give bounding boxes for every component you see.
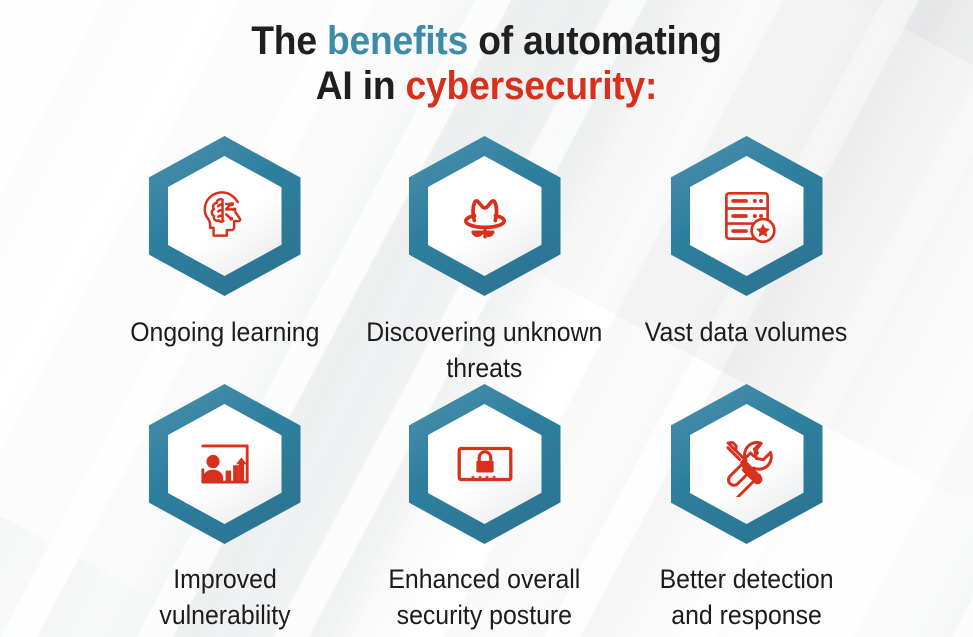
benefit-label: Discovering unknown threats bbox=[366, 314, 602, 386]
title-line-1: The benefits of automating bbox=[34, 19, 939, 64]
spy-hat-mask-icon bbox=[452, 183, 518, 249]
benefit-item-discovering-unknown-threats[interactable]: Discovering unknown threats bbox=[354, 132, 616, 386]
benefits-row-1: Ongoing learning bbox=[0, 132, 973, 380]
hex-badge-improved-vulnerability-management[interactable] bbox=[141, 380, 309, 548]
hex-badge-better-detection-and-response[interactable] bbox=[663, 380, 831, 548]
benefit-item-better-detection-and-response[interactable]: Better detection and response bbox=[616, 380, 878, 633]
page-title: The benefits of automating AI in cyberse… bbox=[0, 19, 973, 109]
hex-badge-ongoing-learning[interactable] bbox=[141, 132, 309, 300]
hex-badge-discovering-unknown-threats[interactable] bbox=[401, 132, 569, 300]
infographic-poster: The benefits of automating AI in cyberse… bbox=[0, 0, 973, 637]
wrench-screwdriver-icon bbox=[714, 431, 780, 497]
person-growth-chart-icon bbox=[192, 431, 258, 497]
benefit-item-improved-vulnerability-management[interactable]: Improved vulnerability management bbox=[96, 380, 354, 637]
title-text-ai-in: AI in bbox=[316, 64, 406, 108]
title-highlight-benefits: benefits bbox=[327, 19, 468, 63]
brain-head-icon bbox=[192, 183, 258, 249]
title-text-the: The bbox=[251, 19, 327, 63]
benefit-label: Better detection and response bbox=[660, 561, 834, 633]
title-line-2: AI in cybersecurity: bbox=[34, 64, 939, 109]
hex-badge-enhanced-overall-security-posture[interactable] bbox=[401, 380, 569, 548]
benefit-label: Ongoing learning bbox=[130, 314, 319, 350]
benefit-item-vast-data-volumes[interactable]: Vast data volumes bbox=[616, 132, 878, 350]
benefit-item-ongoing-learning[interactable]: Ongoing learning bbox=[96, 132, 354, 350]
benefit-label: Improved vulnerability management bbox=[106, 561, 343, 637]
hex-badge-vast-data-volumes[interactable] bbox=[663, 132, 831, 300]
title-highlight-cybersecurity: cybersecurity: bbox=[406, 64, 658, 108]
server-rack-star-icon bbox=[714, 183, 780, 249]
title-text-of-automating: of automating bbox=[468, 19, 722, 63]
benefit-label: Enhanced overall security posture bbox=[389, 561, 581, 633]
benefit-label: Vast data volumes bbox=[645, 314, 848, 350]
password-lock-icon bbox=[452, 431, 518, 497]
benefit-item-enhanced-overall-security-posture[interactable]: Enhanced overall security posture bbox=[354, 380, 616, 633]
benefits-grid: Ongoing learning bbox=[0, 132, 973, 630]
benefits-row-2: Improved vulnerability management bbox=[0, 380, 973, 630]
